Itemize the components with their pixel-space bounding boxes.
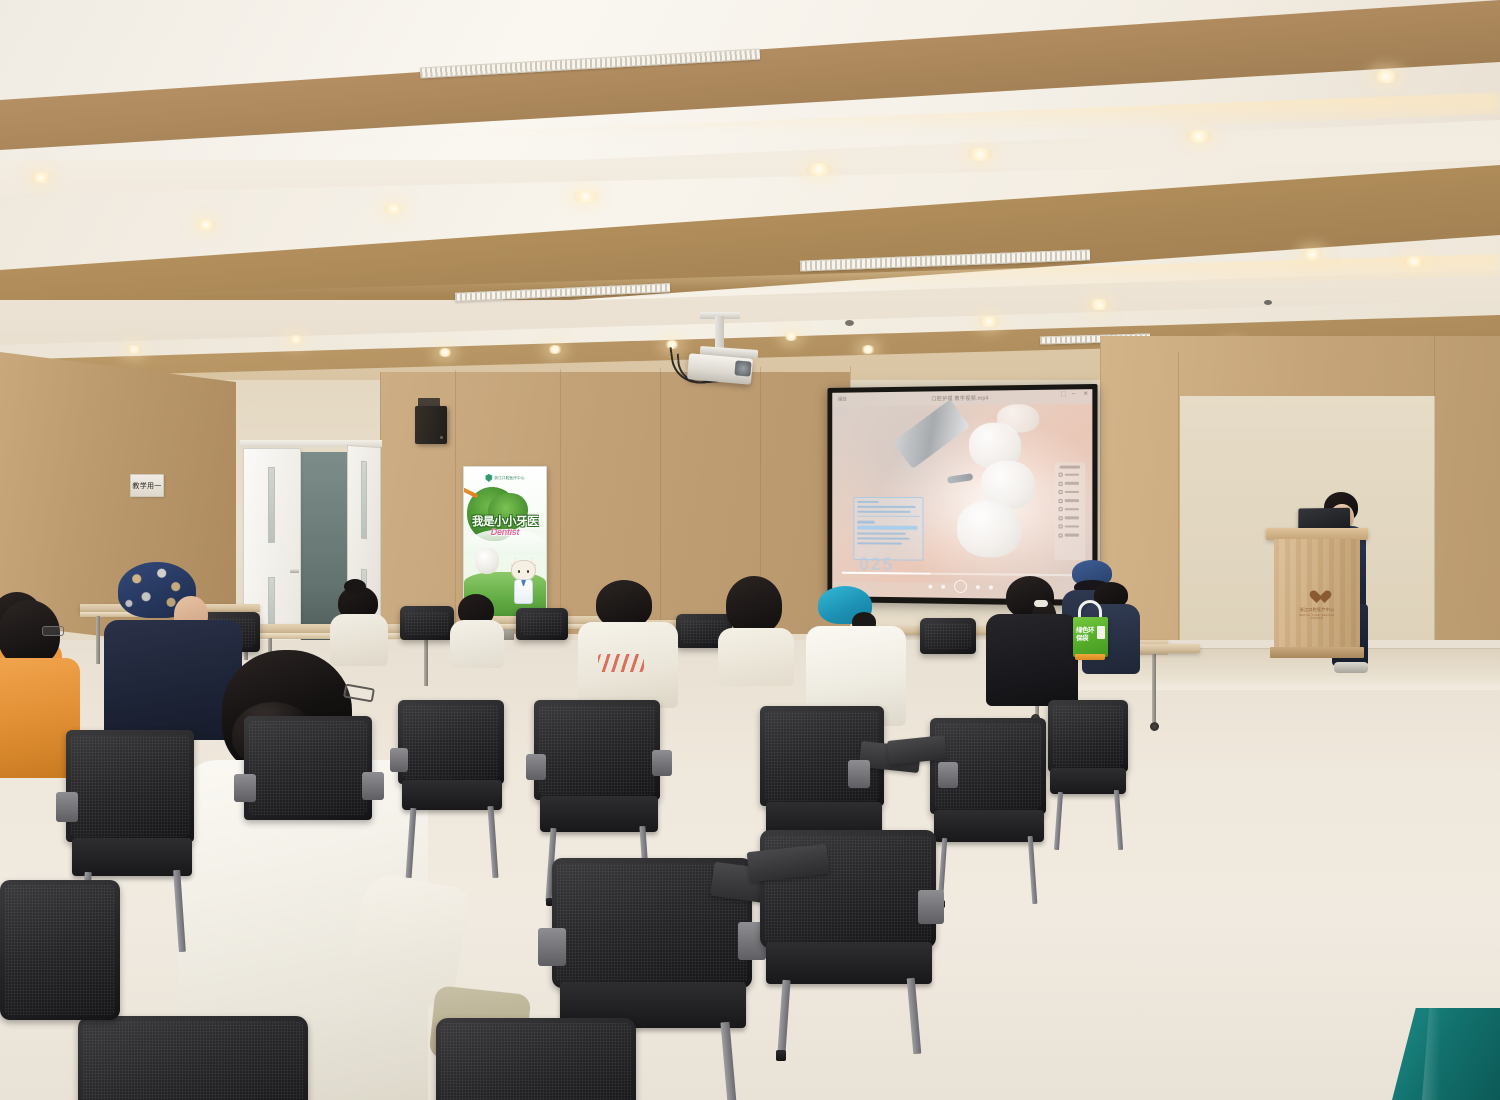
table-caster	[1150, 722, 1159, 731]
downlight-icon	[860, 345, 876, 354]
overlay-step-line	[857, 537, 909, 540]
downlight-icon	[30, 172, 52, 183]
progress-bar-fill	[842, 572, 931, 574]
overlay-heading-line	[857, 501, 878, 503]
chapter-icon	[1059, 481, 1063, 485]
door-window-icon	[361, 461, 367, 539]
sidebar-item[interactable]	[1057, 524, 1084, 528]
dental-instrument-icon	[893, 399, 970, 469]
downlight-icon	[195, 219, 217, 230]
play-icon[interactable]	[954, 580, 967, 593]
downlight-icon	[1088, 299, 1110, 310]
chair-arm-hinge	[390, 748, 408, 772]
shirt-print	[598, 654, 644, 672]
big-tooth-illustration	[475, 548, 499, 574]
downlight-icon	[1185, 130, 1213, 143]
downlight-icon	[383, 203, 405, 214]
forward-icon[interactable]	[975, 585, 979, 589]
chair-arm-hinge	[538, 928, 566, 966]
chapter-icon	[1059, 533, 1063, 537]
torso	[718, 628, 794, 686]
downlight-icon	[572, 190, 600, 203]
video-window-title: 口腔护理 教学视频.mp4	[931, 395, 988, 403]
sidebar-item[interactable]	[1057, 507, 1084, 511]
eyeglasses-icon	[42, 626, 64, 636]
tote-bag-label: 绿色环保袋	[1076, 627, 1096, 643]
wall-sign-label: 教学用一	[132, 481, 161, 491]
overlay-body-line	[857, 511, 910, 513]
banner-logo: 浙江口腔医疗中心	[485, 474, 524, 482]
sidebar-item[interactable]	[1057, 473, 1084, 477]
shield-icon	[485, 474, 492, 482]
next-icon[interactable]	[988, 585, 992, 589]
chapter-label	[1065, 491, 1079, 494]
chapter-icon	[1059, 490, 1063, 494]
hair-tie	[1034, 600, 1048, 607]
chair-foot	[776, 1050, 786, 1061]
downlight-icon	[1403, 256, 1425, 267]
banner-logo-label: 浙江口腔医疗中心	[494, 476, 524, 481]
door-window-icon	[268, 577, 275, 629]
downlight-icon	[547, 345, 563, 354]
lectern: 浙江口腔医疗中心 DENTAL CARE MEDICAL CENTER	[1270, 528, 1364, 658]
wall-seam	[1434, 336, 1435, 656]
overlay-steps-heading-line	[857, 521, 874, 523]
chair-arm-hinge	[526, 754, 546, 780]
downlight-icon	[805, 163, 833, 176]
lectern-body: 浙江口腔医疗中心 DENTAL CARE MEDICAL CENTER	[1274, 539, 1360, 647]
chapter-label	[1065, 482, 1079, 485]
torso	[330, 614, 388, 666]
chapter-icon	[1059, 499, 1063, 503]
overlay-step-line-active	[857, 526, 917, 530]
previous-icon[interactable]	[928, 584, 932, 588]
chapter-label	[1065, 508, 1079, 511]
sidebar-title-bar	[1060, 466, 1080, 469]
door-window-icon	[268, 467, 275, 543]
presenter-shoe	[1334, 662, 1368, 673]
tote-bag-base	[1075, 654, 1105, 660]
close-icon[interactable]: ✕	[1083, 392, 1088, 397]
chapter-icon	[1059, 524, 1063, 528]
lectern-logo-label: 浙江口腔医疗中心	[1296, 607, 1339, 613]
speaker-led-icon	[440, 436, 443, 439]
video-content-area[interactable]: 025	[832, 403, 1092, 584]
wall-seam	[1178, 352, 1179, 652]
wall-sign: 教学用一	[130, 474, 164, 497]
chapter-icon	[1059, 516, 1063, 520]
overlay-step-line	[857, 542, 902, 545]
tooth-shape	[997, 404, 1039, 433]
chair-arm-hinge	[362, 772, 384, 800]
wall-speaker-icon	[415, 406, 447, 444]
chair-arm-hinge	[918, 890, 944, 924]
downlight-icon	[783, 332, 799, 341]
lectern-base	[1270, 647, 1364, 658]
overlay-body-line	[857, 506, 915, 508]
torso	[986, 614, 1078, 706]
chair-arm-hinge	[652, 750, 672, 776]
progress-bar[interactable]	[842, 572, 1080, 576]
video-text-overlay	[853, 497, 923, 561]
chair-arm-hinge	[848, 760, 870, 788]
chapter-label	[1065, 534, 1079, 537]
heart-icon	[1309, 591, 1325, 605]
hair-bun	[344, 579, 366, 594]
downlight-icon	[978, 316, 1000, 327]
video-chapter-sidebar[interactable]	[1055, 462, 1086, 560]
downlight-icon	[966, 148, 994, 161]
projector-lens-icon	[734, 360, 751, 376]
chair-arm-hinge	[234, 774, 256, 802]
downlight-icon	[126, 345, 142, 354]
hair	[596, 580, 652, 628]
table-leg	[424, 638, 428, 686]
chair-arm-hinge	[938, 762, 958, 788]
wall-seam	[660, 368, 661, 636]
torso	[450, 620, 504, 668]
downlight-icon	[1372, 70, 1400, 83]
window-controls[interactable]: ⬚ – ✕	[1061, 392, 1089, 397]
conference-room-photo: 教学用一 口腔护理 教学视频.mp4 播	[0, 0, 1500, 1100]
downlight-icon	[288, 335, 304, 344]
ceiling-sensor-icon	[845, 320, 854, 326]
wall-seam	[560, 369, 561, 635]
sidebar-item[interactable]	[1057, 516, 1084, 520]
downlight-icon	[1301, 249, 1323, 260]
table-leg	[96, 616, 100, 664]
downlight-icon	[437, 348, 453, 357]
mascot-eye	[527, 570, 529, 573]
chair-arm-hinge	[56, 792, 78, 822]
chapter-icon	[1059, 473, 1063, 477]
screen-surface: 口腔护理 教学视频.mp4 播放 ⬚ – ✕	[832, 389, 1092, 600]
sidebar-item[interactable]	[1057, 481, 1084, 485]
toothbrush-icon	[463, 476, 479, 499]
minimize-icon[interactable]: –	[1072, 392, 1077, 397]
tooth-shape	[957, 501, 1021, 558]
sidebar-item[interactable]	[1057, 499, 1084, 503]
mascot-illustration	[510, 560, 537, 604]
wall-seam	[455, 370, 456, 634]
table-leg	[1152, 654, 1156, 722]
chapter-label	[1065, 517, 1079, 520]
table	[1130, 644, 1200, 653]
video-window-menu-label: 播放	[838, 397, 847, 403]
mascot-eye	[518, 570, 520, 573]
door-handle-icon[interactable]	[290, 569, 299, 573]
chapter-label	[1065, 473, 1079, 476]
hair	[726, 576, 782, 634]
rewind-icon[interactable]	[941, 584, 945, 588]
overlay-step-line	[857, 532, 906, 535]
lectern-logo-sublabel: DENTAL CARE MEDICAL CENTER	[1296, 614, 1339, 620]
chapter-label	[1065, 525, 1079, 528]
tote-bag-tag	[1097, 626, 1105, 639]
ceiling-sensor-icon	[1264, 300, 1272, 305]
sidebar-item[interactable]	[1057, 533, 1084, 537]
projection-screen[interactable]: 口腔护理 教学视频.mp4 播放 ⬚ – ✕	[827, 384, 1097, 606]
maximize-icon[interactable]: ⬚	[1061, 393, 1066, 398]
platform-step-face	[1040, 672, 1500, 690]
overlay-divider	[857, 516, 919, 517]
mascot-head	[511, 560, 536, 581]
lectern-logo: 浙江口腔医疗中心 DENTAL CARE MEDICAL CENTER	[1296, 591, 1339, 620]
dental-instrument-tip-icon	[947, 473, 974, 484]
green-tote-bag: 绿色环保袋	[1073, 617, 1108, 657]
chapter-label	[1065, 499, 1079, 502]
banner-subtitle: Dentist	[464, 527, 546, 537]
chapter-icon	[1059, 507, 1063, 511]
sidebar-item[interactable]	[1057, 490, 1084, 494]
